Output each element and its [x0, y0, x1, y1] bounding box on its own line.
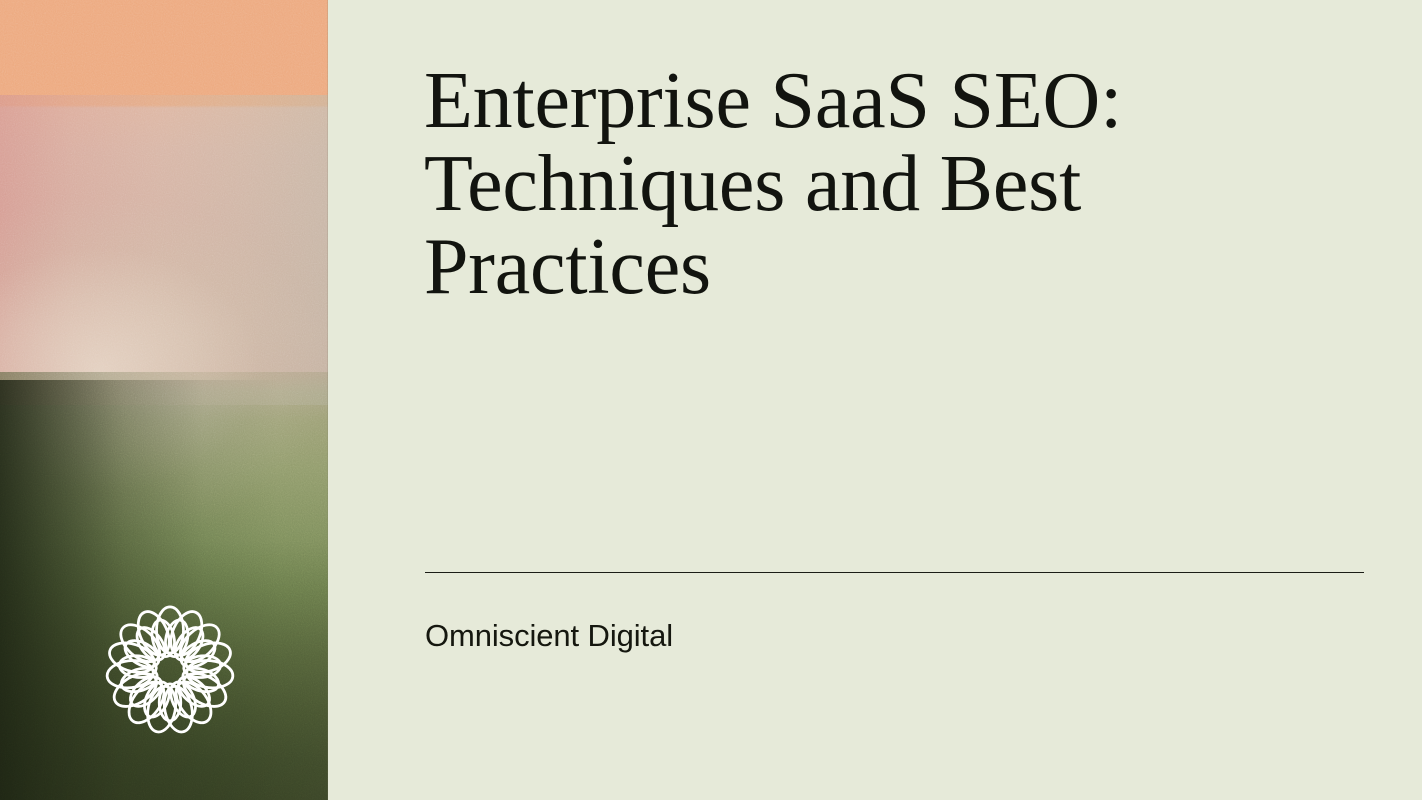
title-slide: Enterprise SaaS SEO: Techniques and Best…: [0, 0, 1422, 800]
omniscient-digital-logo: [93, 593, 247, 747]
page-title: Enterprise SaaS SEO: Techniques and Best…: [424, 60, 1324, 309]
slide-content: Enterprise SaaS SEO: Techniques and Best…: [328, 0, 1422, 800]
byline: Omniscient Digital: [425, 617, 673, 655]
gradient-artwork-panel: [0, 0, 328, 800]
title-divider: [425, 572, 1364, 573]
mandala-ring-icon: [93, 593, 247, 747]
